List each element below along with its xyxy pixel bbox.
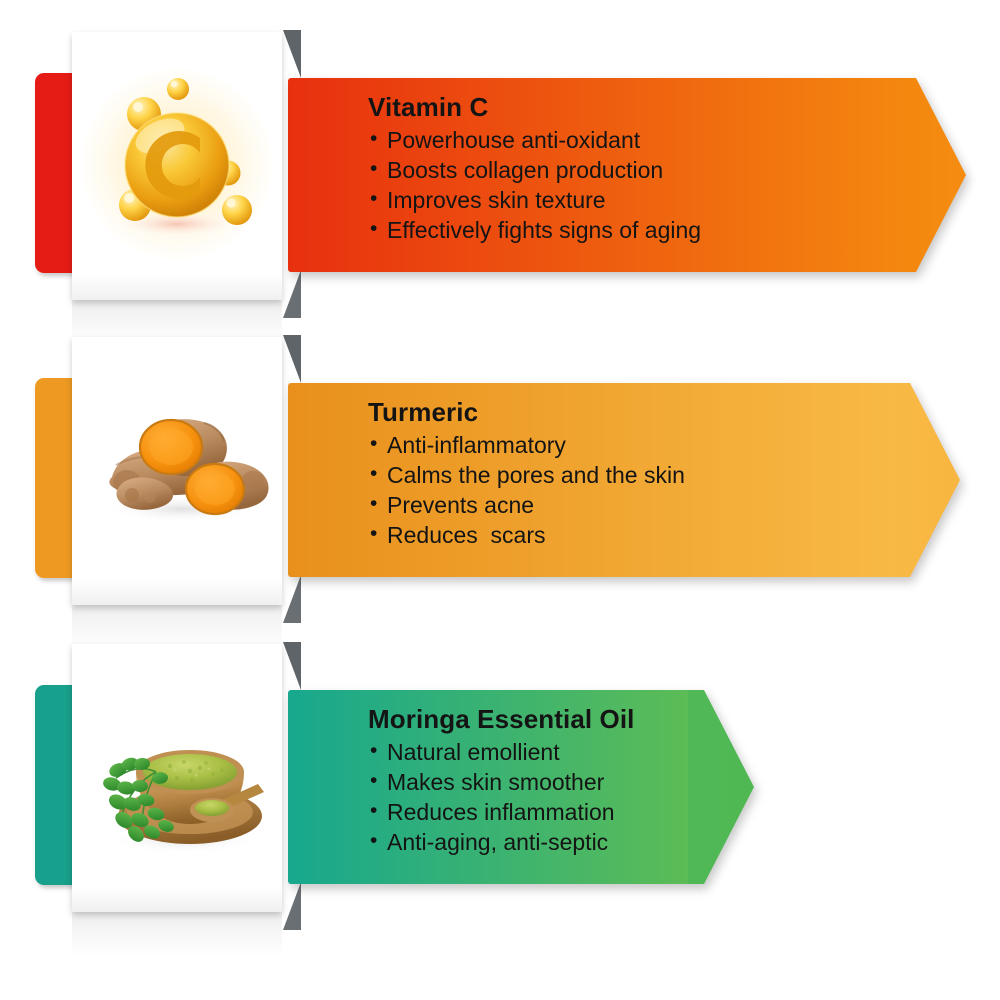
ingredient-panel-turmeric: Turmeric Anti-inflammatory Calms the por… bbox=[0, 305, 1000, 615]
moringa-powder-bowl-photo bbox=[72, 644, 282, 912]
vitamin-c-golden-capsule-photo bbox=[72, 32, 282, 300]
benefit-item: Calms the pores and the skin bbox=[368, 460, 1000, 490]
ribbon-fold-bottom-icon bbox=[283, 575, 301, 623]
ribbon-fold-bottom-icon bbox=[283, 882, 301, 930]
benefit-list: Anti-inflammatory Calms the pores and th… bbox=[368, 430, 1000, 550]
benefit-item: Anti-inflammatory bbox=[368, 430, 1000, 460]
ingredient-image-card-turmeric bbox=[72, 337, 282, 605]
panel-text-turmeric: Turmeric Anti-inflammatory Calms the por… bbox=[368, 395, 1000, 550]
panel-title: Turmeric bbox=[368, 395, 1000, 429]
benefit-item: Prevents acne bbox=[368, 490, 1000, 520]
benefit-list: Natural emollient Makes skin smoother Re… bbox=[368, 737, 1000, 857]
panel-text-moringa: Moringa Essential Oil Natural emollient … bbox=[368, 702, 1000, 857]
ribbon-fold-bottom-icon bbox=[283, 270, 301, 318]
ingredient-panel-moringa: Moringa Essential Oil Natural emollient … bbox=[0, 612, 1000, 922]
ingredient-image-card-moringa bbox=[72, 644, 282, 912]
ribbon-fold-top-icon bbox=[283, 335, 301, 383]
turmeric-root-photo bbox=[72, 337, 282, 605]
benefit-item: Effectively fights signs of aging bbox=[368, 215, 1000, 245]
benefit-item: Powerhouse anti-oxidant bbox=[368, 125, 1000, 155]
panel-title: Moringa Essential Oil bbox=[368, 702, 1000, 736]
benefit-item: Anti-aging, anti-septic bbox=[368, 827, 1000, 857]
panel-text-vitamin-c: Vitamin C Powerhouse anti-oxidant Boosts… bbox=[368, 90, 1000, 245]
benefit-item: Natural emollient bbox=[368, 737, 1000, 767]
benefit-list: Powerhouse anti-oxidant Boosts collagen … bbox=[368, 125, 1000, 245]
ribbon-fold-top-icon bbox=[283, 642, 301, 690]
ingredient-image-card-vitamin-c bbox=[72, 32, 282, 300]
benefit-item: Improves skin texture bbox=[368, 185, 1000, 215]
panel-title: Vitamin C bbox=[368, 90, 1000, 124]
card-reflection bbox=[72, 912, 282, 956]
benefit-item: Boosts collagen production bbox=[368, 155, 1000, 185]
infographic-canvas: Vitamin C Powerhouse anti-oxidant Boosts… bbox=[0, 0, 1000, 1000]
benefit-item: Reduces inflammation bbox=[368, 797, 1000, 827]
benefit-item: Makes skin smoother bbox=[368, 767, 1000, 797]
card-reflection bbox=[72, 605, 282, 649]
ribbon-fold-top-icon bbox=[283, 30, 301, 78]
ingredient-panel-vitamin-c: Vitamin C Powerhouse anti-oxidant Boosts… bbox=[0, 0, 1000, 310]
benefit-item: Reduces scars bbox=[368, 520, 1000, 550]
